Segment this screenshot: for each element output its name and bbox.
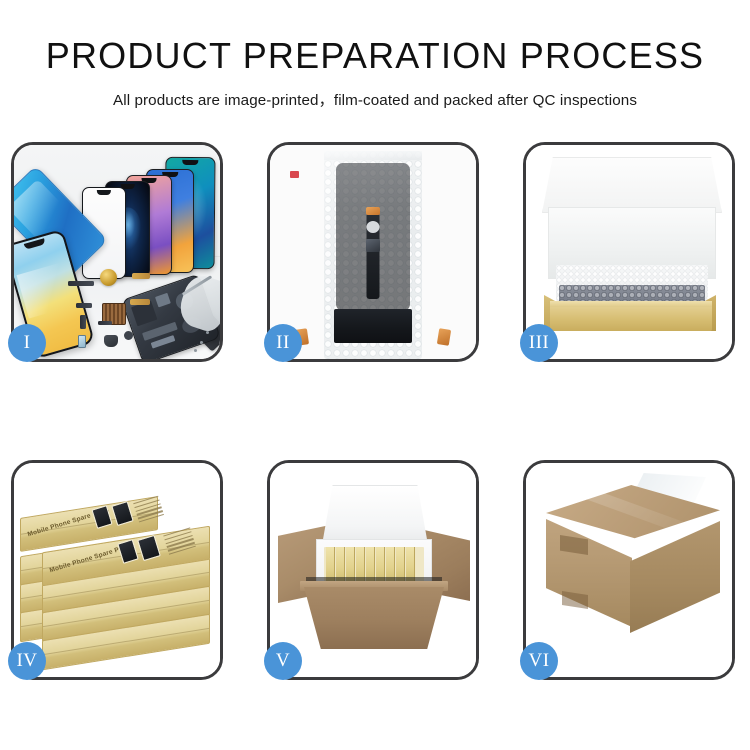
step-image-4: Mobile Phone Spare Parts xyxy=(14,463,220,677)
box-stack: Mobile Phone Spare Parts xyxy=(20,477,216,663)
part-flex-cable xyxy=(132,273,150,279)
step-image-6 xyxy=(526,463,732,677)
step-panel-6[interactable]: VI xyxy=(523,460,735,680)
step-badge-1: I xyxy=(8,324,46,362)
step-panel-3[interactable]: III xyxy=(523,142,735,362)
kraft-tray-front xyxy=(550,307,712,331)
step-image-5 xyxy=(270,463,476,677)
phone-notch xyxy=(182,160,198,165)
step-image-2 xyxy=(270,145,476,359)
step-image-3 xyxy=(526,145,732,359)
step-panel-4[interactable]: Mobile Phone Spare Parts xyxy=(11,460,223,680)
part-button-flex xyxy=(76,303,92,308)
board-chip xyxy=(155,292,171,307)
part-flex-cable xyxy=(130,299,150,305)
red-qc-label xyxy=(290,171,299,178)
step-panel-1[interactable]: 10:08 xyxy=(11,142,223,362)
part-coil xyxy=(100,269,117,286)
part-earpiece xyxy=(68,281,94,286)
bubble-wrap-seal xyxy=(324,151,422,160)
phone-notch xyxy=(97,190,111,195)
page-subtitle: All products are image-printed，film-coat… xyxy=(0,88,750,110)
step-badge-2: II xyxy=(264,324,302,362)
page-header: PRODUCT PREPARATION PROCESS All products… xyxy=(0,36,750,110)
part-screw xyxy=(194,349,197,352)
step-badge-4: IV xyxy=(8,642,46,680)
part-speaker xyxy=(104,335,118,347)
step-panel-5[interactable]: V xyxy=(267,460,479,680)
step-badge-6: VI xyxy=(520,642,558,680)
part-button xyxy=(124,331,133,340)
foam-box-lid xyxy=(322,485,428,545)
part-bracket xyxy=(80,315,86,329)
step-badge-5: V xyxy=(264,642,302,680)
box-lid-back xyxy=(542,157,722,213)
cable-ic-chip xyxy=(366,239,380,252)
product-preparation-page: PRODUCT PREPARATION PROCESS All products… xyxy=(0,0,750,750)
step-badge-3: III xyxy=(520,324,558,362)
step-image-1: 10:08 xyxy=(14,145,220,359)
carton-front-wall xyxy=(304,587,444,649)
display-pcb xyxy=(334,309,412,343)
orange-tape-right xyxy=(437,328,451,346)
process-steps-grid: 10:08 xyxy=(11,142,739,680)
orange-tape-top xyxy=(366,207,380,215)
part-antenna xyxy=(98,321,112,325)
step-panel-2[interactable]: II xyxy=(267,142,479,362)
page-title: PRODUCT PREPARATION PROCESS xyxy=(0,36,750,76)
part-sim-tray xyxy=(78,335,86,348)
part-screw xyxy=(206,331,209,334)
part-screw xyxy=(200,341,203,344)
cable-pad xyxy=(367,221,380,233)
